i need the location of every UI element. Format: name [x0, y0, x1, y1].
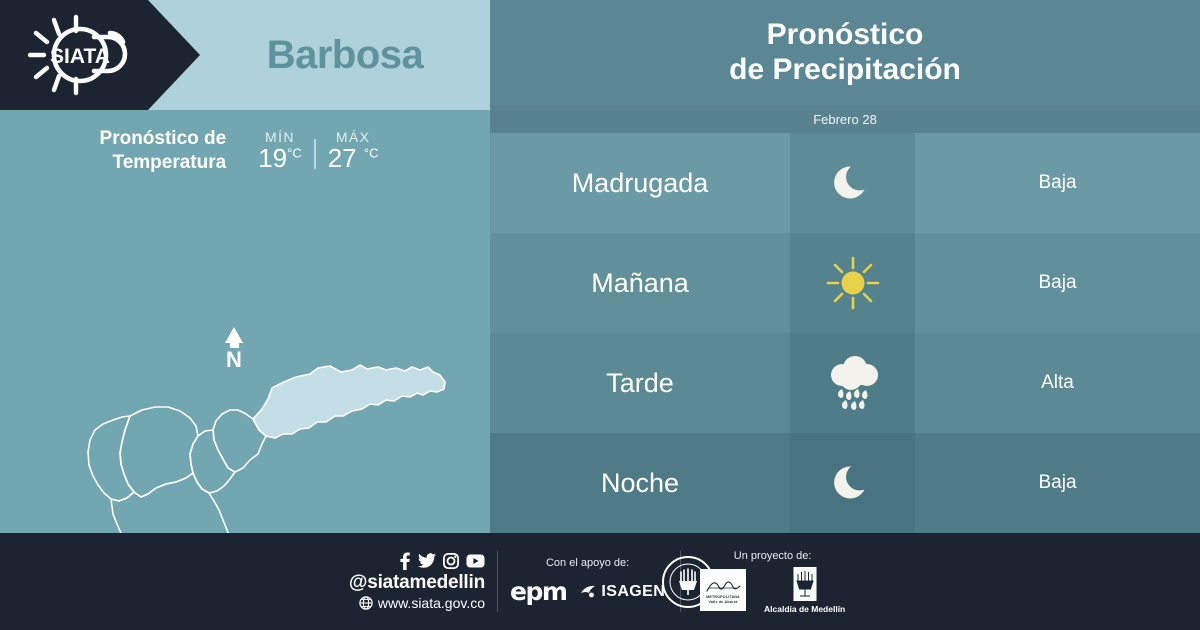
- siata-logo: SIATA: [0, 0, 200, 110]
- temperature-title-line1: Pronóstico de: [100, 127, 227, 151]
- north-arrow-label: N: [226, 347, 242, 372]
- website-line[interactable]: www.siata.gov.co: [359, 595, 485, 611]
- temperature-title-line2: Temperatura: [100, 151, 227, 175]
- forecast-probability: Baja: [915, 133, 1200, 233]
- city-title: Barbosa: [200, 0, 490, 110]
- website-label: www.siata.gov.co: [378, 595, 485, 611]
- forecast-period-label: Noche: [490, 433, 790, 533]
- precipitation-title-line2: de Precipitación: [729, 53, 961, 88]
- temperature-min-unit: °C: [287, 146, 302, 161]
- siata-logo-icon: SIATA: [18, 9, 168, 101]
- footer: @siatamedellin www.siata.gov.co Con el a…: [0, 533, 1200, 630]
- forecast-period-label: Tarde: [490, 333, 790, 433]
- isagen-mark-icon: [580, 584, 597, 599]
- forecast-probability: Baja: [915, 433, 1200, 533]
- map-region-bello-west: [88, 416, 134, 501]
- siata-logo-text: SIATA: [50, 45, 110, 68]
- alcaldia-label: Alcaldía de Medellín: [764, 604, 845, 614]
- north-arrow: N: [225, 327, 243, 372]
- facebook-icon[interactable]: [398, 552, 411, 570]
- project-logos: METROPOLITANA Valle de Aburrá Alcaldía d…: [700, 566, 845, 614]
- forecast-row-madrugada: Madrugada Baja: [490, 133, 1200, 233]
- precipitation-header: Pronóstico de Precipitación: [490, 0, 1200, 105]
- weather-infographic: SIATA Barbosa Pronóstico de Temperatura …: [0, 0, 1200, 630]
- footer-social: @siatamedellin www.siata.gov.co: [300, 533, 495, 630]
- youtube-icon[interactable]: [466, 554, 485, 568]
- footer-support: Con el apoyo de: epm ISAGEN: [510, 533, 665, 630]
- moon-icon-svg: [827, 157, 879, 209]
- rain-cloud-icon-svg: [822, 353, 884, 413]
- temperature-max-number: 27: [328, 143, 357, 173]
- moon-icon: [790, 433, 915, 533]
- map-region-medellin: [111, 473, 231, 533]
- forecast-period-label: Madrugada: [490, 133, 790, 233]
- temperature-title: Pronóstico de Temperatura: [100, 127, 227, 175]
- alcaldia-crest-icon: [792, 566, 818, 602]
- alcaldia-logo: Alcaldía de Medellín: [764, 566, 845, 614]
- temperature-max: MÁX 27 °C: [316, 129, 391, 172]
- left-header: SIATA Barbosa: [0, 0, 490, 110]
- map-region-barbosa: [253, 365, 445, 438]
- precipitation-title-line1: Pronóstico: [767, 18, 924, 53]
- globe-icon: [359, 596, 373, 610]
- forecast-period-label: Mañana: [490, 233, 790, 333]
- moon-icon: [790, 133, 915, 233]
- footer-project: Un proyecto de: METROPOLITANA Valle de A…: [700, 533, 845, 630]
- footer-divider-1: [497, 551, 498, 612]
- area-logo-sub2: Valle de Aburrá: [708, 600, 737, 604]
- sun-icon: [790, 233, 915, 333]
- support-logos: epm ISAGEN: [510, 577, 665, 606]
- temperature-min-value: 19°C: [258, 145, 302, 172]
- precipitation-panel: Pronóstico de Precipitación Febrero 28 M…: [490, 0, 1200, 533]
- instagram-icon[interactable]: [443, 553, 459, 569]
- forecast-row-manana: Mañana: [490, 233, 1200, 333]
- temperature-values: MÍN 19°C MÁX 27 °C: [246, 129, 390, 172]
- twitter-icon[interactable]: [418, 553, 436, 569]
- social-handle[interactable]: @siatamedellin: [349, 572, 485, 594]
- aburra-valley-map: N: [0, 176, 490, 533]
- forecast-date-label: Febrero 28: [813, 112, 877, 127]
- temperature-min-number: 19: [258, 143, 287, 173]
- temperature-max-value: 27 °C: [328, 145, 379, 172]
- temperature-max-unit: °C: [364, 146, 379, 161]
- forecast-probability: Alta: [915, 333, 1200, 433]
- left-panel: SIATA Barbosa Pronóstico de Temperatura …: [0, 0, 490, 533]
- forecast-row-noche: Noche Baja: [490, 433, 1200, 533]
- map-region-bello: [120, 407, 198, 497]
- forecast-date: Febrero 28: [490, 105, 1200, 133]
- left-body: Pronóstico de Temperatura MÍN 19°C MÁX: [0, 110, 490, 533]
- sun-icon-svg: [824, 254, 882, 312]
- temperature-divider: [314, 139, 316, 169]
- map-svg: N: [0, 176, 490, 533]
- area-metropolitana-logo: METROPOLITANA Valle de Aburrá: [700, 569, 746, 611]
- project-caption: Un proyecto de:: [734, 550, 812, 562]
- isagen-wordmark: ISAGEN: [601, 583, 665, 601]
- forecast-row-tarde: Tarde: [490, 333, 1200, 433]
- moon-icon-svg: [827, 457, 879, 509]
- forecast-rows: Madrugada Baja Mañana: [490, 133, 1200, 533]
- support-caption: Con el apoyo de:: [546, 557, 629, 569]
- isagen-logo: ISAGEN: [580, 583, 665, 601]
- temperature-min: MÍN 19°C: [246, 129, 314, 172]
- social-icon-row: [398, 552, 485, 570]
- epm-logo: epm: [510, 577, 566, 606]
- forecast-probability: Baja: [915, 233, 1200, 333]
- temperature-summary: Pronóstico de Temperatura MÍN 19°C MÁX: [0, 118, 490, 184]
- rain-cloud-icon: [790, 333, 915, 433]
- area-script-icon: [703, 575, 743, 595]
